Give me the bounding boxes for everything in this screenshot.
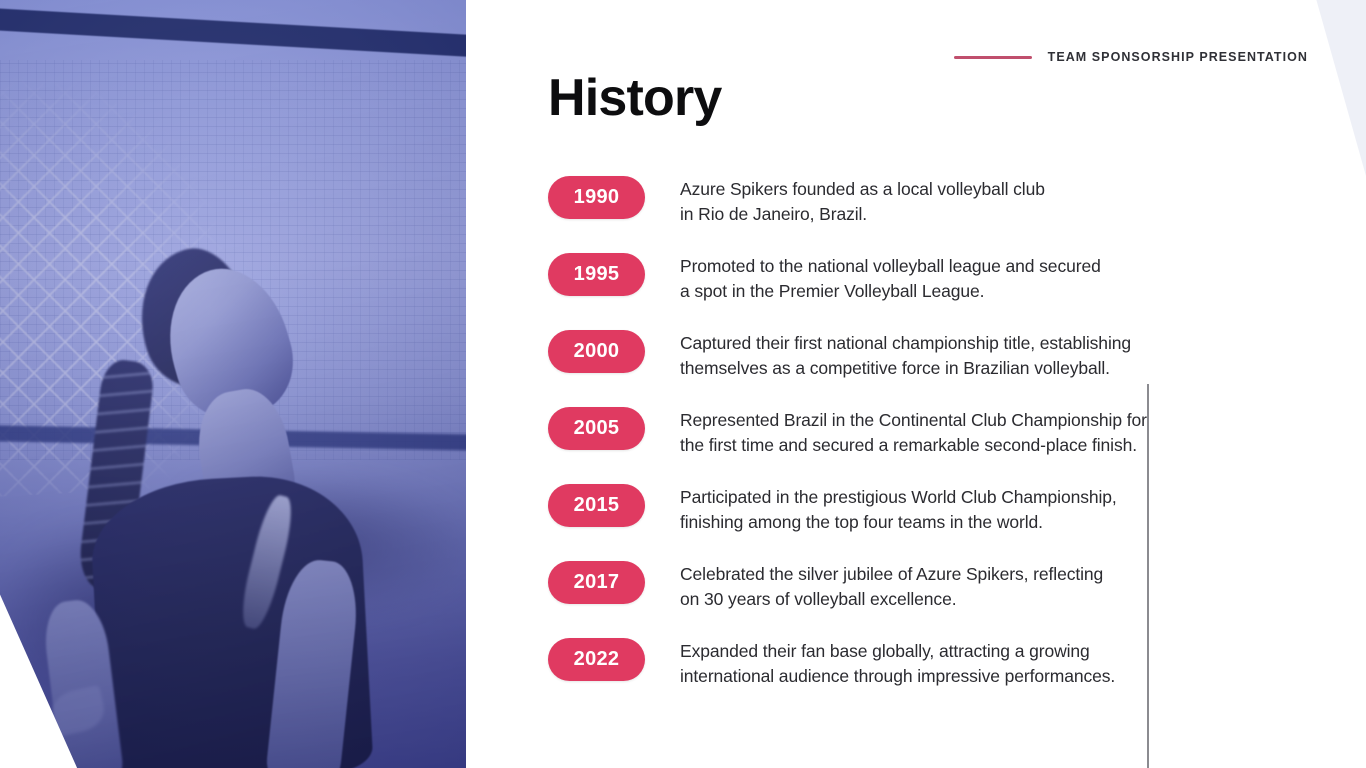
timeline-description-line1: Represented Brazil in the Continental Cl… — [680, 410, 1147, 430]
timeline-description-line1: Captured their first national championsh… — [680, 333, 1131, 353]
timeline-description-line1: Azure Spikers founded as a local volleyb… — [680, 179, 1045, 199]
timeline-description-line2: on 30 years of volleyball excellence. — [680, 587, 1248, 612]
timeline-item: 1995 Promoted to the national volleyball… — [548, 253, 1248, 330]
timeline-item: 2017 Celebrated the silver jubilee of Az… — [548, 561, 1248, 638]
timeline-description-line2: the first time and secured a remarkable … — [680, 433, 1248, 458]
timeline-description: Azure Spikers founded as a local volleyb… — [680, 176, 1248, 227]
slide-root: TEAM SPONSORSHIP PRESENTATION History 19… — [0, 0, 1366, 768]
timeline-description-line2: a spot in the Premier Volleyball League. — [680, 279, 1248, 304]
eyebrow-label: TEAM SPONSORSHIP PRESENTATION — [1048, 50, 1308, 64]
eyebrow-rule-icon — [954, 56, 1032, 59]
timeline: 1990 Azure Spikers founded as a local vo… — [548, 176, 1248, 715]
corner-decoration-shape — [1286, 0, 1366, 176]
timeline-badge-wrap: 1995 — [548, 253, 680, 296]
timeline-description-line1: Celebrated the silver jubilee of Azure S… — [680, 564, 1103, 584]
timeline-description: Celebrated the silver jubilee of Azure S… — [680, 561, 1248, 612]
timeline-item: 2005 Represented Brazil in the Continent… — [548, 407, 1248, 484]
timeline-description-line2: in Rio de Janeiro, Brazil. — [680, 202, 1248, 227]
timeline-year-badge[interactable]: 2022 — [548, 638, 645, 681]
timeline-description-line1: Expanded their fan base globally, attrac… — [680, 641, 1090, 661]
timeline-description-line1: Participated in the prestigious World Cl… — [680, 487, 1117, 507]
hero-photo — [0, 0, 466, 768]
timeline-description-line2: international audience through impressiv… — [680, 664, 1248, 689]
timeline-description: Participated in the prestigious World Cl… — [680, 484, 1248, 535]
timeline-item: 1990 Azure Spikers founded as a local vo… — [548, 176, 1248, 253]
timeline-badge-wrap: 2000 — [548, 330, 680, 373]
timeline-item: 2022 Expanded their fan base globally, a… — [548, 638, 1248, 715]
timeline-description-line2: themselves as a competitive force in Bra… — [680, 356, 1248, 381]
timeline-year-badge[interactable]: 2017 — [548, 561, 645, 604]
timeline-description: Captured their first national championsh… — [680, 330, 1248, 381]
eyebrow: TEAM SPONSORSHIP PRESENTATION — [954, 50, 1308, 64]
timeline-description: Represented Brazil in the Continental Cl… — [680, 407, 1248, 458]
timeline-year-badge[interactable]: 2005 — [548, 407, 645, 450]
timeline-item: 2000 Captured their first national champ… — [548, 330, 1248, 407]
timeline-badge-wrap: 2015 — [548, 484, 680, 527]
timeline-description: Expanded their fan base globally, attrac… — [680, 638, 1248, 689]
timeline-year-badge[interactable]: 1995 — [548, 253, 645, 296]
photo-vignette — [0, 0, 466, 768]
timeline-year-badge[interactable]: 2015 — [548, 484, 645, 527]
timeline-year-badge[interactable]: 2000 — [548, 330, 645, 373]
timeline-description-line1: Promoted to the national volleyball leag… — [680, 256, 1101, 276]
timeline-description: Promoted to the national volleyball leag… — [680, 253, 1248, 304]
timeline-badge-wrap: 2005 — [548, 407, 680, 450]
timeline-item: 2015 Participated in the prestigious Wor… — [548, 484, 1248, 561]
timeline-badge-wrap: 1990 — [548, 176, 680, 219]
timeline-year-badge[interactable]: 1990 — [548, 176, 645, 219]
timeline-badge-wrap: 2022 — [548, 638, 680, 681]
page-title: History — [548, 72, 722, 124]
timeline-badge-wrap: 2017 — [548, 561, 680, 604]
timeline-description-line2: finishing among the top four teams in th… — [680, 510, 1248, 535]
